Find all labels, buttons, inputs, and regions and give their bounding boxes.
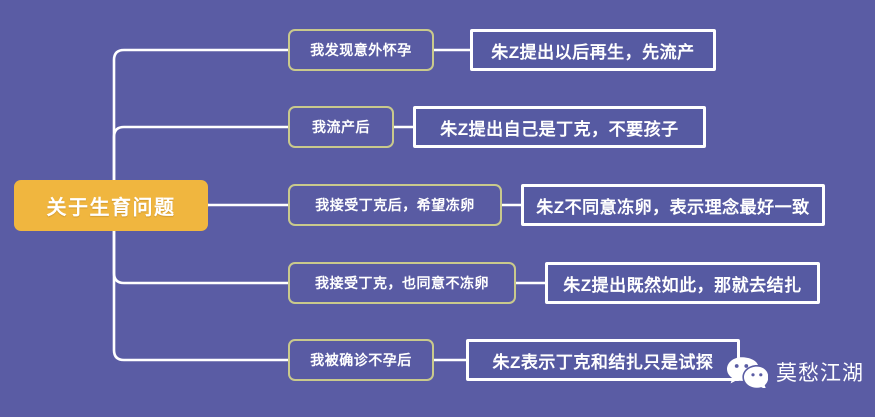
leaf-node-4-label: 朱Z提出既然如此，那就去结扎 bbox=[563, 271, 801, 296]
wechat-icon bbox=[726, 356, 768, 388]
branch-node-5[interactable]: 我被确诊不孕后 bbox=[288, 339, 434, 381]
leaf-node-3-label: 朱Z不同意冻卵，表示理念最好一致 bbox=[536, 193, 809, 218]
branch-node-4-label: 我接受丁克，也同意不冻卵 bbox=[315, 273, 489, 293]
leaf-node-5[interactable]: 朱Z表示丁克和结扎只是试探 bbox=[466, 339, 740, 381]
branch-node-2[interactable]: 我流产后 bbox=[288, 106, 394, 148]
branch-node-1-label: 我发现意外怀孕 bbox=[310, 40, 412, 60]
leaf-node-1-label: 朱Z提出以后再生，先流产 bbox=[491, 38, 694, 63]
root-node-label: 关于生育问题 bbox=[47, 191, 176, 220]
branch-node-5-label: 我被确诊不孕后 bbox=[310, 350, 412, 370]
branch-node-3-label: 我接受丁克后，希望冻卵 bbox=[315, 195, 475, 215]
leaf-node-4[interactable]: 朱Z提出既然如此，那就去结扎 bbox=[545, 262, 820, 304]
branch-node-2-label: 我流产后 bbox=[312, 117, 370, 137]
branch-node-1[interactable]: 我发现意外怀孕 bbox=[288, 29, 434, 71]
mindmap-canvas: 关于生育问题 我发现意外怀孕 朱Z提出以后再生，先流产 我流产后 朱Z提出自己是… bbox=[0, 0, 875, 417]
branch-node-3[interactable]: 我接受丁克后，希望冻卵 bbox=[288, 184, 502, 226]
leaf-node-3[interactable]: 朱Z不同意冻卵，表示理念最好一致 bbox=[521, 184, 825, 226]
leaf-node-2[interactable]: 朱Z提出自己是丁克，不要孩子 bbox=[413, 106, 706, 148]
leaf-node-1[interactable]: 朱Z提出以后再生，先流产 bbox=[470, 29, 716, 71]
watermark-text: 莫愁江湖 bbox=[776, 357, 864, 387]
watermark: 莫愁江湖 bbox=[726, 356, 864, 388]
root-node[interactable]: 关于生育问题 bbox=[14, 180, 208, 231]
leaf-node-2-label: 朱Z提出自己是丁克，不要孩子 bbox=[440, 115, 678, 140]
leaf-node-5-label: 朱Z表示丁克和结扎只是试探 bbox=[493, 348, 714, 373]
branch-node-4[interactable]: 我接受丁克，也同意不冻卵 bbox=[288, 262, 516, 304]
